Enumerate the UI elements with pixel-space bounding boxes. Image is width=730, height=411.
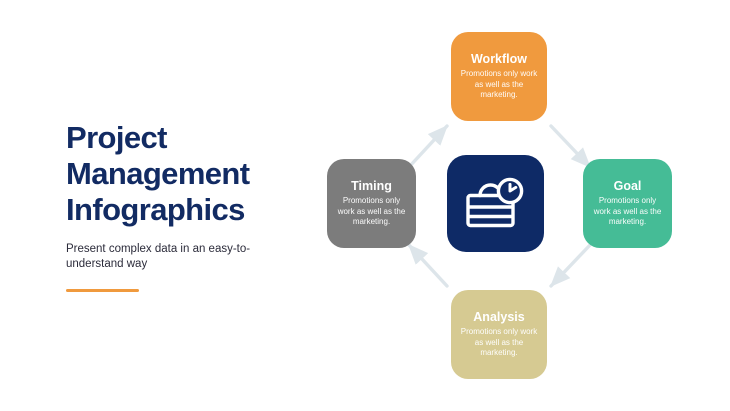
node-goal-description: Promotions only work as well as the mark… <box>590 196 665 228</box>
node-workflow-description: Promotions only work as well as the mark… <box>459 69 539 101</box>
page-subtitle: Present complex data in an easy-to-under… <box>66 242 251 272</box>
infographic-slide: Project Management Infographics Present … <box>0 0 730 411</box>
arrow-timing-to-workflow <box>409 126 447 167</box>
node-analysis[interactable]: Analysis Promotions only work as well as… <box>451 290 547 379</box>
node-goal[interactable]: Goal Promotions only work as well as the… <box>583 159 672 248</box>
page-title: Project Management Infographics <box>66 120 306 228</box>
accent-divider <box>66 289 139 292</box>
node-timing[interactable]: Timing Promotions only work as well as t… <box>327 159 416 248</box>
briefcase-clock-icon <box>465 177 527 231</box>
title-panel: Project Management Infographics Present … <box>66 120 306 292</box>
arrow-workflow-to-goal <box>551 126 590 167</box>
center-icon-tile <box>447 155 544 252</box>
node-timing-description: Promotions only work as well as the mark… <box>334 196 409 228</box>
node-analysis-title: Analysis <box>473 310 524 325</box>
node-goal-title: Goal <box>614 179 642 194</box>
cycle-diagram: Workflow Promotions only work as well as… <box>310 20 710 395</box>
node-analysis-description: Promotions only work as well as the mark… <box>459 327 539 359</box>
node-timing-title: Timing <box>351 179 392 194</box>
arrow-goal-to-analysis <box>551 245 590 286</box>
node-workflow-title: Workflow <box>471 52 527 67</box>
arrow-analysis-to-timing <box>409 245 447 286</box>
node-workflow[interactable]: Workflow Promotions only work as well as… <box>451 32 547 121</box>
